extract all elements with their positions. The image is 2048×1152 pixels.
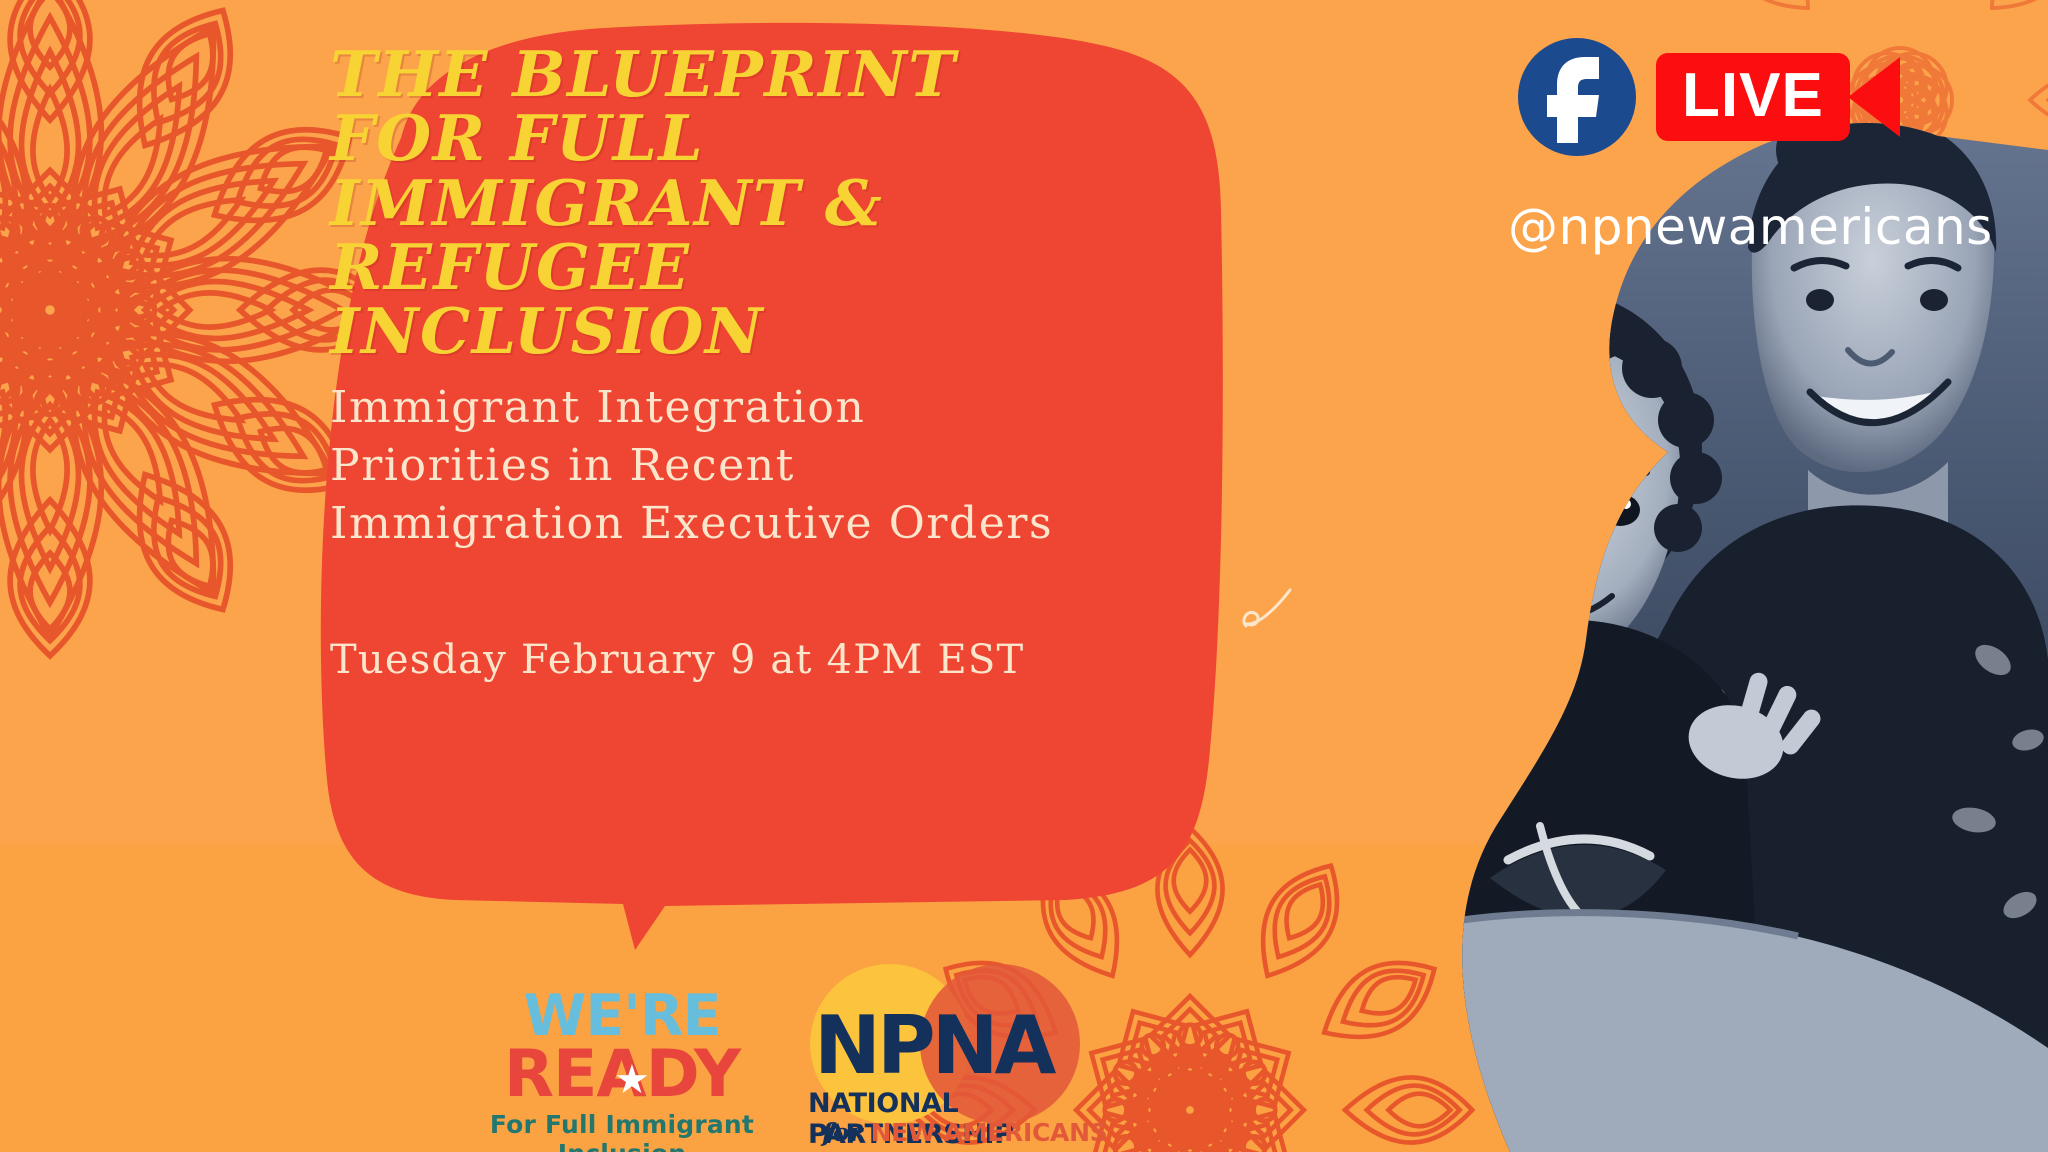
- npna-acronym: NPNA: [814, 1006, 1052, 1086]
- npna-tagline-line2: for NEW AMERICANS: [822, 1118, 1107, 1147]
- event-datetime: Tuesday February 9 at 4PM EST: [330, 637, 1170, 683]
- npna-for-word: for: [822, 1118, 863, 1147]
- social-handle[interactable]: @npnewamericans: [1508, 198, 1993, 256]
- npna-logo: NPNA NATIONAL PARTNERSHIP for NEW AMERIC…: [800, 960, 1130, 1152]
- were-ready-tagline: For Full Immigrant Inclusion: [462, 1110, 782, 1152]
- live-indicator[interactable]: LIVE: [1656, 53, 1900, 141]
- were-ready-line1: WE'RE: [462, 990, 782, 1042]
- star-icon: ★: [614, 1060, 650, 1100]
- facebook-live-badge[interactable]: LIVE: [1518, 38, 1900, 156]
- squiggle-doodle-icon: [1238, 580, 1298, 640]
- were-ready-logo: WE'RE READY ★ For Full Immigrant Inclusi…: [462, 990, 782, 1152]
- facebook-f-icon[interactable]: [1518, 38, 1636, 156]
- npna-new-americans: NEW AMERICANS: [871, 1118, 1108, 1147]
- were-ready-line2-wrap: READY ★: [462, 1042, 782, 1108]
- bubble-content: THE BLUEPRINT FOR FULL IMMIGRANT & REFUG…: [330, 42, 1170, 683]
- promo-poster: THE BLUEPRINT FOR FULL IMMIGRANT & REFUG…: [0, 0, 2048, 1152]
- live-label: LIVE: [1656, 53, 1850, 141]
- hero-photo: [1148, 0, 2048, 1152]
- page-title: THE BLUEPRINT FOR FULL IMMIGRANT & REFUG…: [330, 42, 1120, 363]
- video-camera-icon: [1848, 57, 1900, 137]
- event-subtitle: Immigrant Integration Priorities in Rece…: [330, 379, 1090, 553]
